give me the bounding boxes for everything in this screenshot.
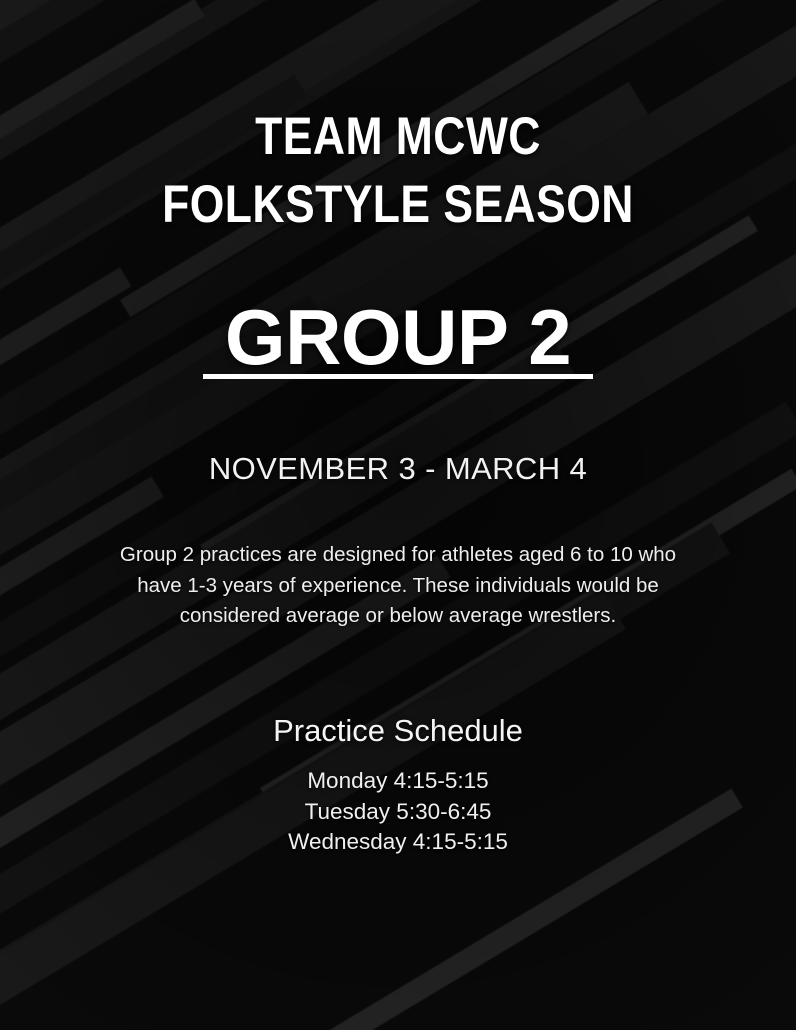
headline-team-name: TEAM MCWC: [64, 103, 733, 171]
practice-schedule-heading: Practice Schedule: [0, 712, 796, 750]
poster-canvas: TEAM MCWC FOLKSTYLE SEASON GROUP 2 NOVEM…: [0, 0, 796, 1030]
description-paragraph: Group 2 practices are designed for athle…: [98, 540, 698, 632]
date-range-text: NOVEMBER 3 - MARCH 4: [0, 450, 796, 488]
practice-schedule-list: Monday 4:15-5:15Tuesday 5:30-6:45Wednesd…: [0, 766, 796, 858]
page-title-group: GROUP 2: [0, 295, 796, 379]
title-underline-rule: [203, 374, 593, 379]
poster-content: TEAM MCWC FOLKSTYLE SEASON GROUP 2 NOVEM…: [0, 0, 796, 1030]
schedule-entry: Monday 4:15-5:15: [0, 766, 796, 797]
headline-season: FOLKSTYLE SEASON: [64, 171, 733, 239]
schedule-entry: Wednesday 4:15-5:15: [0, 827, 796, 858]
schedule-entry: Tuesday 5:30-6:45: [0, 797, 796, 828]
